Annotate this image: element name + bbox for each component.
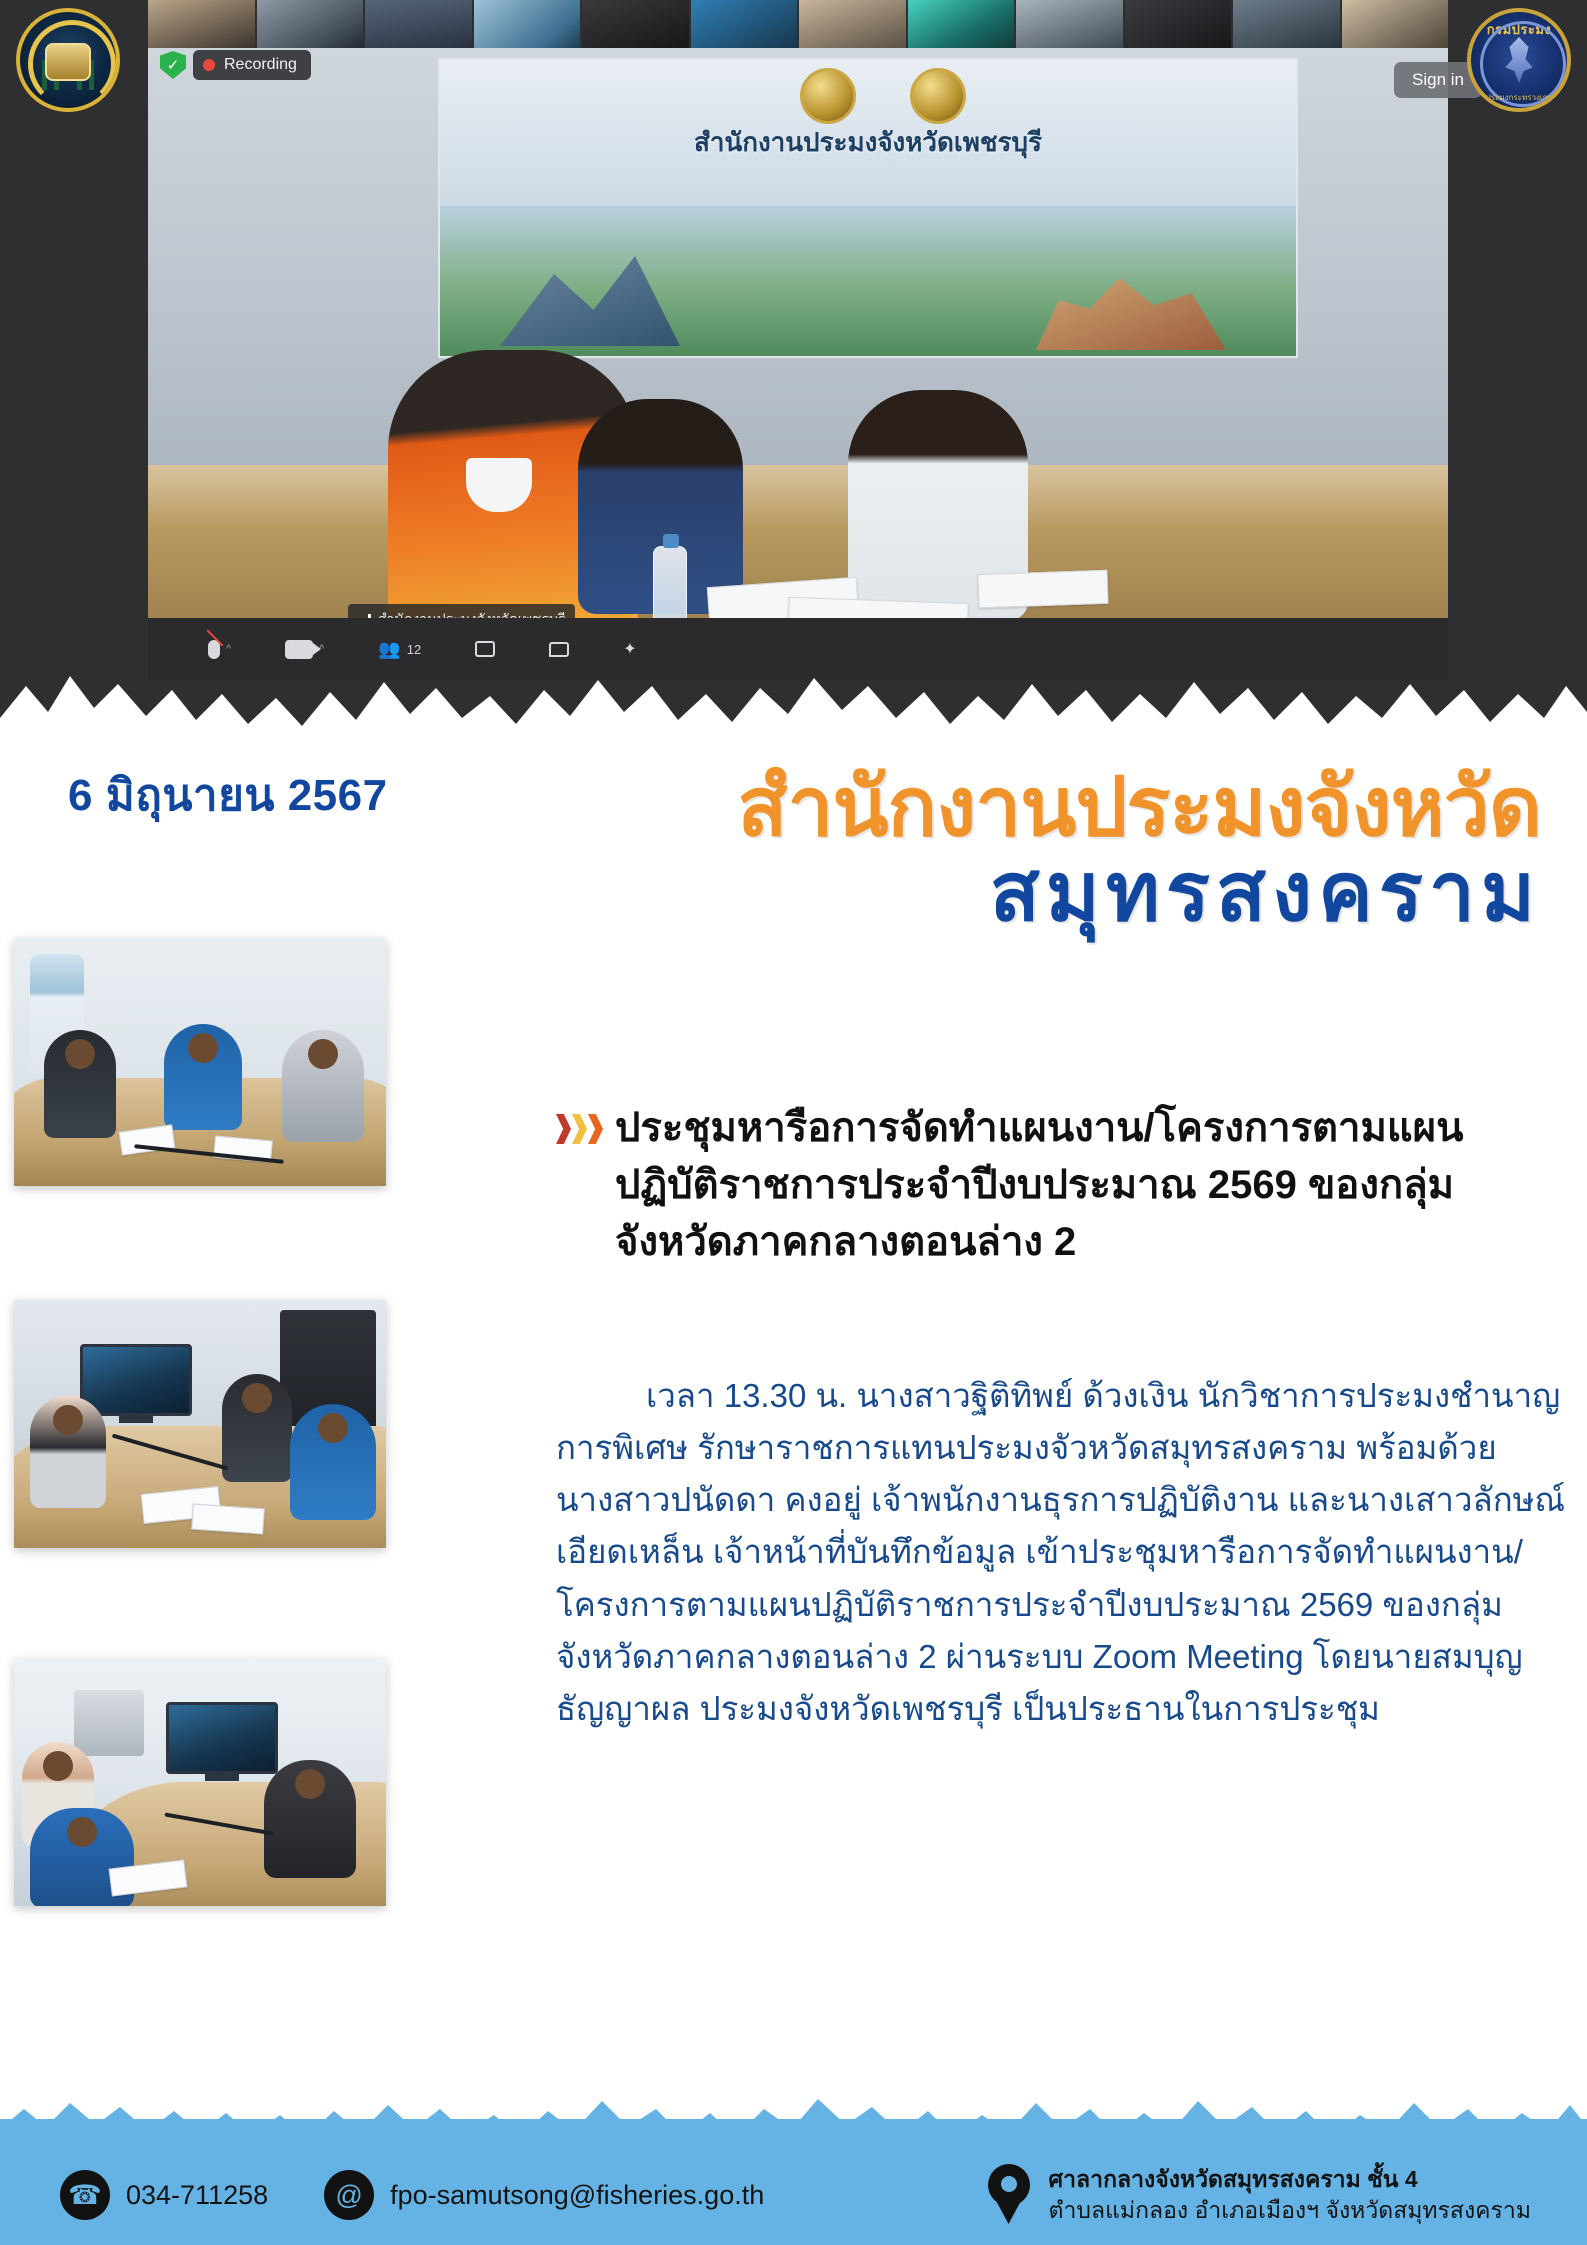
- seated-person: [264, 1760, 356, 1878]
- photo-meeting-room-1[interactable]: [14, 938, 386, 1186]
- phone-icon: ☎: [60, 2170, 110, 2220]
- participant-thumbnail[interactable]: [365, 0, 472, 48]
- participant-thumbnail[interactable]: [908, 0, 1015, 48]
- email-address: fpo-samutsong@fisheries.go.th: [390, 2180, 764, 2211]
- seated-person: [222, 1374, 292, 1482]
- active-speaker-video[interactable]: สำนักงานประมงจังหวัดเพชรบุรี สำนักงานประ…: [148, 48, 1448, 680]
- seated-person: [44, 1030, 116, 1138]
- microwave: [74, 1690, 144, 1756]
- recording-label: Recording: [224, 56, 297, 74]
- backdrop-office-name: สำนักงานประมงจังหวัดเพชรบุรี: [440, 122, 1296, 163]
- headline-text: ประชุมหารือการจัดทำแผนงาน/โครงการตามแผนป…: [615, 1100, 1566, 1270]
- conference-room-backdrop: สำนักงานประมงจังหวัดเพชรบุรี: [438, 58, 1298, 358]
- record-dot-icon: [203, 59, 215, 71]
- security-shield-icon[interactable]: ✓: [160, 51, 186, 79]
- chevron-bullet-icon: [556, 1100, 603, 1270]
- post-date: 6 มิถุนายน 2567: [68, 760, 388, 830]
- seated-person: [164, 1024, 242, 1130]
- fisheries-department-logo: กรมประมง กรมประมงกระทรวงเกษตรฯ: [1467, 8, 1571, 112]
- phone-number: 034-711258: [126, 2180, 268, 2211]
- paper-document: [191, 1504, 265, 1535]
- seated-person: [30, 1396, 106, 1508]
- participant-thumbnail[interactable]: [1233, 0, 1340, 48]
- contact-footer: ☎ 034-711258 @ fpo-samutsong@fisheries.g…: [0, 2119, 1587, 2245]
- participant-thumbnail[interactable]: [1016, 0, 1123, 48]
- participant-thumbnail[interactable]: [257, 0, 364, 48]
- backdrop-seal-left-icon: [800, 68, 856, 124]
- participant-thumbnail[interactable]: [799, 0, 906, 48]
- headline-block: ประชุมหารือการจัดทำแผนงาน/โครงการตามแผนป…: [556, 1100, 1566, 1270]
- participant-thumbnail[interactable]: [1125, 0, 1232, 48]
- recording-status: Recording: [193, 50, 311, 80]
- torn-paper-divider: [0, 646, 1587, 740]
- email-at-icon: @: [324, 2170, 374, 2220]
- address-line-1: ศาลากลางจังหวัดสมุทรสงคราม ชั้น 4: [1049, 2164, 1531, 2195]
- ceremonial-drum-icon: [45, 43, 91, 81]
- participant-thumbnail[interactable]: [1342, 0, 1449, 48]
- photo-meeting-room-3[interactable]: [14, 1658, 386, 1906]
- seated-person: [290, 1404, 376, 1520]
- zoom-meeting-screenshot: สำนักงานประมงจังหวัดเพชรบุรี สำนักงานประ…: [0, 0, 1587, 740]
- backdrop-seal-right-icon: [910, 68, 966, 124]
- address-line-2: ตำบลแม่กลอง อำเภอเมืองฯ จังหวัดสมุทรสงคร…: [1049, 2195, 1531, 2226]
- footer-phone[interactable]: ☎ 034-711258: [60, 2170, 268, 2220]
- fisheries-logo-bottom-text: กรมประมงกระทรวงเกษตรฯ: [1471, 91, 1567, 104]
- participant-thumbnail-strip[interactable]: [148, 0, 1448, 48]
- participant-thumbnail[interactable]: [691, 0, 798, 48]
- province-seal-logo: [16, 8, 120, 112]
- org-title-line2: สมุทรสงคราม: [501, 850, 1541, 937]
- seated-person: [282, 1030, 364, 1142]
- recording-indicator-group: ✓ Recording: [160, 48, 311, 82]
- footer-email[interactable]: @ fpo-samutsong@fisheries.go.th: [324, 2170, 764, 2220]
- org-title-line1: สำนักงานประมงจังหวัด: [501, 766, 1541, 850]
- article-body: เวลา 13.30 น. นางสาวฐิติทิพย์ ด้วงเงิน น…: [556, 1370, 1576, 1735]
- organization-title: สำนักงานประมงจังหวัด สมุทรสงคราม: [501, 766, 1541, 937]
- video-monitor: [166, 1702, 278, 1774]
- participant-thumbnail[interactable]: [582, 0, 689, 48]
- backdrop-scenery: [440, 206, 1296, 356]
- photo-meeting-room-2[interactable]: [14, 1300, 386, 1548]
- map-pin-icon: [985, 2164, 1033, 2226]
- participant-thumbnail[interactable]: [148, 0, 255, 48]
- paper-document: [977, 570, 1108, 609]
- participant-thumbnail[interactable]: [474, 0, 581, 48]
- video-monitor: [80, 1344, 192, 1416]
- footer-torn-divider: [0, 2083, 1587, 2145]
- footer-address: ศาลากลางจังหวัดสมุทรสงคราม ชั้น 4 ตำบลแม…: [985, 2164, 1531, 2226]
